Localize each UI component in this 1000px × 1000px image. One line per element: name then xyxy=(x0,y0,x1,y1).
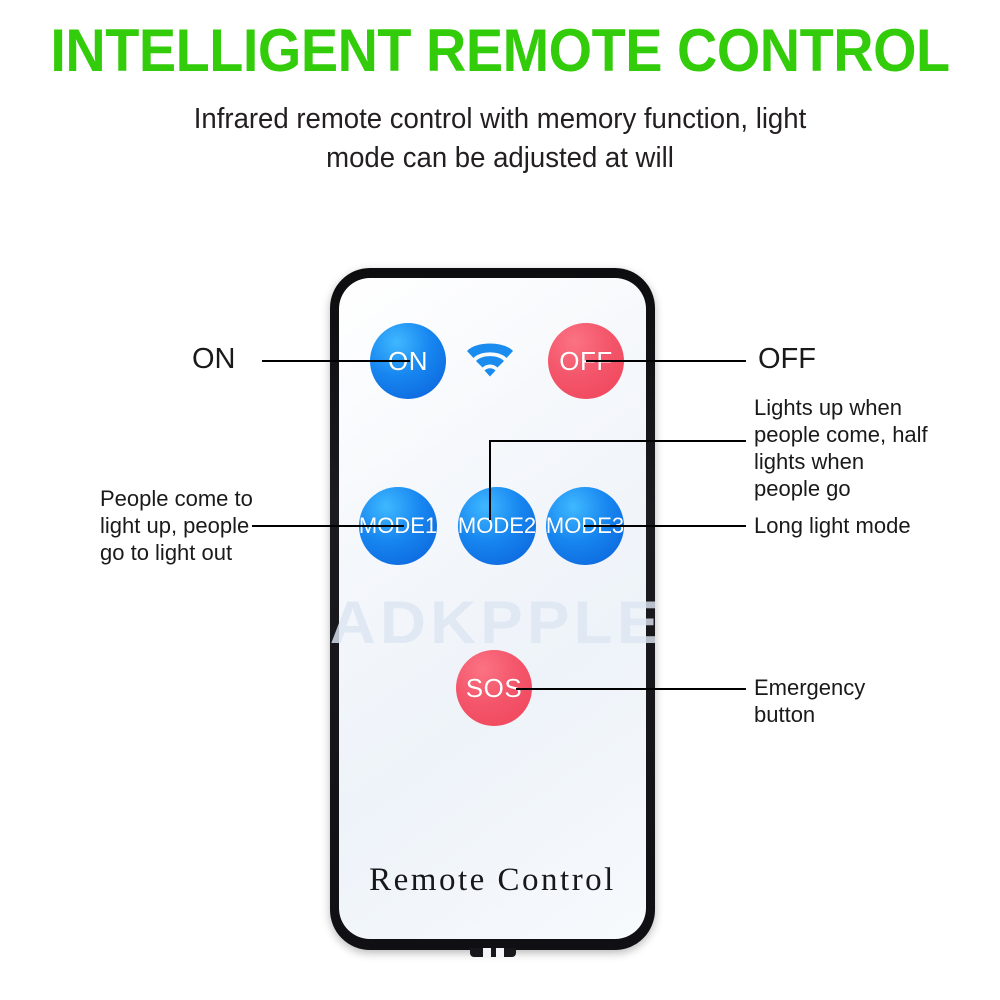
button-sos-label: SOS xyxy=(466,673,522,704)
page-subtitle: Infrared remote control with memory func… xyxy=(158,100,842,178)
callout-off: OFF xyxy=(758,342,816,376)
leader-line-off xyxy=(586,360,746,362)
callout-sos: Emergency button xyxy=(754,674,914,728)
leader-line-mode1 xyxy=(252,525,404,527)
button-mode2[interactable]: MODE2 xyxy=(458,487,536,565)
wifi-icon xyxy=(464,338,516,382)
callout-mode3: Long light mode xyxy=(754,512,954,539)
leader-line-mode2-vertical xyxy=(489,440,491,520)
leader-line-sos xyxy=(516,688,746,690)
callout-on: ON xyxy=(192,342,236,376)
callout-mode2: Lights up when people come, half lights … xyxy=(754,394,934,502)
leader-line-on xyxy=(262,360,410,362)
brand-watermark: ADKPPLE xyxy=(330,588,655,657)
remote-brand-text: Remote Control xyxy=(330,862,655,899)
leader-line-mode3 xyxy=(584,525,746,527)
page-title: INTELLIGENT REMOTE CONTROL xyxy=(35,18,965,84)
remote-bottom-notch xyxy=(470,948,516,957)
callout-mode1: People come to light up, people go to li… xyxy=(100,485,260,566)
button-mode2-label: MODE2 xyxy=(458,513,536,539)
leader-line-mode2-horizontal xyxy=(489,440,746,442)
